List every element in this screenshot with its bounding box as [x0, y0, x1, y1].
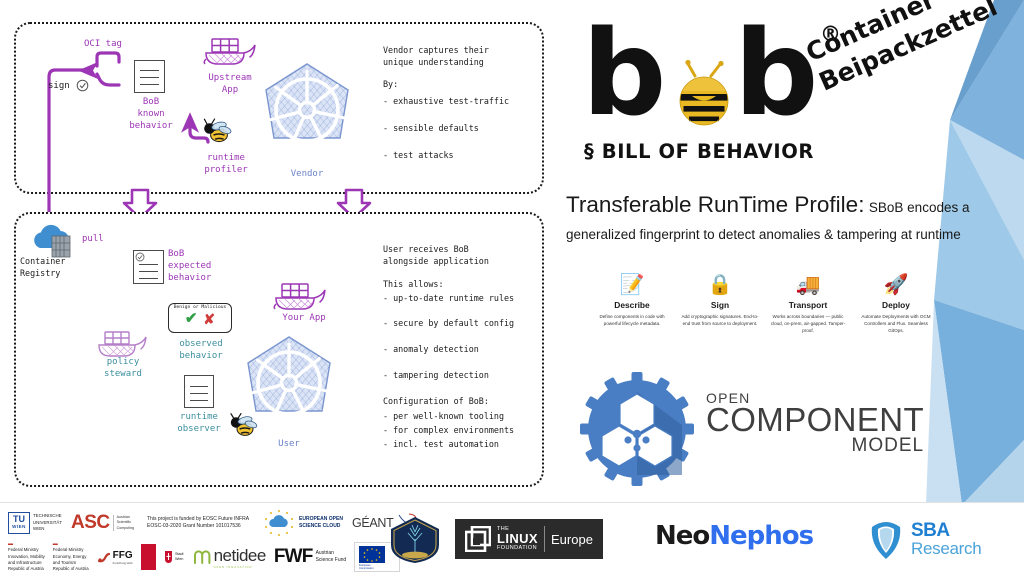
user-config-label: Configuration of BoB: — [383, 396, 489, 408]
user-config-item-2: - incl. test automation — [383, 439, 499, 451]
container-registry-label: Container Registry — [20, 256, 65, 280]
step-transport: 🚚 Transport Works across boundaries — pu… — [764, 272, 852, 334]
verdict-cross-icon: ✘ — [203, 312, 215, 326]
verdict-caption: Benign or Malicious — [174, 305, 227, 310]
user-notes-allows-label: This allows: — [383, 279, 444, 291]
step-deploy: 🚀 Deploy Automate Deployments with OCM C… — [852, 272, 940, 334]
eosc-cloud-stars-icon — [262, 509, 296, 537]
netidee-loop-icon — [192, 547, 212, 567]
ocm-line-model: MODEL — [706, 435, 924, 457]
bob-expected-behavior-label: BoB expected behavior — [168, 248, 240, 284]
container-registry-icon — [28, 224, 80, 260]
linux-foundation-logo: THE LINUX FOUNDATION Europe — [455, 519, 603, 559]
your-app-label: Your App — [272, 312, 336, 324]
kubernetes-vendor-icon — [261, 62, 353, 160]
bee-logo-icon — [677, 60, 733, 128]
ocm-logo: OPEN COMPONENT MODEL — [578, 370, 978, 485]
bob-known-document-icon — [134, 60, 165, 93]
kubernetes-user-icon — [243, 335, 335, 433]
sba-abbr: SBA — [911, 521, 981, 540]
user-notes-title: User receives BoB alongside application — [383, 244, 489, 268]
ffg-swirl-icon — [97, 550, 111, 564]
pull-label: pull — [82, 233, 104, 245]
neonephos-neo: Neo — [655, 521, 709, 551]
sign-check-icon — [76, 79, 89, 92]
tu-wien-name: TECHNISCHE UNIVERSITÄT WIEN — [33, 513, 62, 532]
vendor-note-item-2: - test attacks — [383, 150, 454, 162]
step-describe: 📝 Describe Define components in code wit… — [588, 272, 676, 334]
step-description: Automate Deployments with OCM Controller… — [852, 313, 940, 334]
fwf-logo: FWF Austrian Science Fund — [274, 546, 346, 568]
fwf-name: Austrian Science Fund — [316, 550, 347, 564]
neonephos-nephos: Nephos — [709, 521, 813, 551]
ministry-economy-name: Federal Ministry Economy, Energy and Tou… — [53, 547, 89, 573]
user-config-item-0: - per well-known tooling — [383, 411, 504, 423]
docker-whale-yourapp-icon — [272, 277, 328, 317]
verdict-check-icon: ✔ — [185, 311, 198, 326]
lf-divider — [544, 526, 545, 552]
bob-known-behavior-label: BoB known behavior — [118, 96, 184, 132]
ffg-logo: FFG Forschung wirkt. — [97, 550, 134, 565]
headline-line-2: generalized fingerprint to detect anomal… — [566, 227, 1016, 242]
padlock-icon: 🔒 — [676, 272, 764, 298]
ffg-abbr: FFG — [113, 550, 134, 561]
linux-foundation-mark-icon — [465, 526, 491, 552]
bob-logo-letter-left: b — [582, 14, 664, 132]
asc-abbr: ASC — [71, 512, 110, 534]
memo-pencil-icon: 📝 — [588, 272, 676, 298]
tree-shield-emblem-icon — [387, 515, 443, 565]
runtime-observer-label: runtime observer — [164, 411, 234, 435]
eosc-funding-text: This project is funded by EOSC Future IN… — [147, 516, 249, 531]
step-title: Deploy — [852, 300, 940, 310]
policy-steward-label: policy steward — [92, 356, 154, 380]
vendor-label: Vendor — [276, 168, 338, 180]
verdict-marks: ✔ ✘ — [185, 311, 215, 326]
stadt-wien-name: Stadt Wien — [175, 552, 183, 562]
headline-line-1: Transferable RunTime Profile: SBoB encod… — [566, 192, 1016, 218]
lf-foundation: FOUNDATION — [497, 546, 538, 552]
sign-label: sign — [48, 80, 70, 92]
tu-abbr: TU — [13, 515, 25, 523]
delivery-truck-icon: 🚚 — [764, 272, 852, 298]
asc-logo: ASC Austrian Scientific Computing — [71, 512, 134, 534]
red-partner-mark — [141, 544, 156, 570]
steps-row: 📝 Describe Define components in code wit… — [588, 272, 940, 334]
bob-logo-letter-right: b — [734, 14, 816, 132]
user-allows-item-2: - anomaly detection — [383, 344, 479, 356]
user-label: User — [260, 438, 318, 450]
eu-stars-icon — [359, 546, 385, 563]
wien-crest-icon — [164, 550, 173, 564]
fwf-abbr: FWF — [274, 546, 313, 568]
step-description: Add cryptographic signatures. End-to-end… — [676, 313, 764, 327]
neonephos-logo: NeoNephos — [655, 521, 813, 551]
linux-foundation-wordmark: THE LINUX FOUNDATION — [497, 527, 538, 551]
step-description: Works across boundaries — public cloud, … — [764, 313, 852, 334]
verdict-box: Benign or Malicious ✔ ✘ — [168, 303, 232, 333]
tu-city: WIEN — [12, 523, 26, 531]
docker-whale-upstream-icon — [202, 32, 258, 72]
vendor-notes-by-label: By: — [383, 79, 398, 91]
sba-research-logo: SBA Research — [866, 517, 981, 561]
stadt-wien-logo: Stadt Wien — [164, 550, 183, 564]
asc-name: Austrian Scientific Computing — [113, 515, 134, 531]
netidee-logo: netidee OPEN INNOVATION — [192, 546, 266, 569]
tu-wien-logo: TU WIEN TECHNISCHE UNIVERSITÄT WIEN — [8, 512, 62, 534]
ocm-line-component: COMPONENT — [706, 403, 924, 437]
step-description: Define components in code with powerful … — [588, 313, 676, 327]
bee-profiler-icon — [200, 118, 232, 144]
observed-behavior-label: observed behavior — [166, 338, 236, 362]
sba-wordmark: SBA Research — [911, 521, 981, 558]
headline: Transferable RunTime Profile: SBoB encod… — [566, 192, 1016, 242]
sponsor-row-bottom: ▬ Federal Ministry Innovation, Mobility … — [8, 539, 400, 575]
step-title: Transport — [764, 300, 852, 310]
runtime-profiler-label: runtime profiler — [190, 152, 262, 176]
sponsor-row-top: TU WIEN TECHNISCHE UNIVERSITÄT WIEN ASC … — [8, 507, 419, 539]
step-sign: 🔒 Sign Add cryptographic signatures. End… — [676, 272, 764, 334]
ffg-claim: Forschung wirkt. — [113, 561, 134, 565]
runtime-observer-document-icon — [184, 375, 214, 408]
ministry-economy-logo: ▬ Federal Ministry Economy, Energy and T… — [53, 541, 89, 573]
vendor-note-item-1: - sensible defaults — [383, 123, 479, 135]
ministry-innovation-logo: ▬ Federal Ministry Innovation, Mobility … — [8, 541, 45, 573]
user-allows-item-0: - up-to-date runtime rules — [383, 293, 514, 305]
headline-bold-part: Transferable RunTime Profile: — [566, 192, 864, 217]
eu-flag-icon — [359, 546, 385, 563]
eosc-name: EUROPEAN OPEN SCIENCE CLOUD — [299, 516, 343, 530]
ocm-gear-hexagons-icon — [578, 370, 696, 488]
lf-linux: LINUX — [497, 532, 538, 545]
sponsor-footer: TU WIEN TECHNISCHE UNIVERSITÄT WIEN ASC … — [0, 502, 1024, 576]
lf-region: Europe — [551, 532, 593, 547]
sba-shield-icon — [866, 517, 906, 561]
document-seal-icon — [135, 252, 145, 262]
rocket-icon: 🚀 — [852, 272, 940, 298]
bob-tagline: § BILL OF BEHAVIOR — [584, 140, 814, 163]
sba-research-word: Research — [911, 540, 981, 557]
vendor-notes-title: Vendor captures their unique understandi… — [383, 45, 489, 69]
eosc-logo: EUROPEAN OPEN SCIENCE CLOUD — [262, 509, 343, 537]
european-commission-name: European Commission — [359, 564, 373, 570]
poster-root: OCI tag sign BoB known behavior — [0, 0, 1024, 576]
right-column: b b ® § BILL OF BEHAVIOR Container — [560, 0, 1024, 500]
upstream-app-label: Upstream App — [196, 72, 264, 96]
tu-wien-mark: TU WIEN — [8, 512, 30, 534]
ministry-innovation-name: Federal Ministry Innovation, Mobility an… — [8, 547, 45, 573]
user-allows-item-1: - secure by default config — [383, 318, 514, 330]
ocm-wordmark: OPEN COMPONENT MODEL — [706, 390, 924, 457]
step-title: Sign — [676, 300, 764, 310]
user-config-item-1: - for complex environments — [383, 425, 514, 437]
vendor-note-item-0: - exhaustive test-traffic — [383, 96, 509, 108]
architecture-diagram: OCI tag sign BoB known behavior — [0, 0, 560, 500]
user-allows-item-3: - tampering detection — [383, 370, 489, 382]
netidee-claim: OPEN INNOVATION — [214, 566, 266, 569]
netidee-wordmark: netidee — [214, 546, 266, 566]
headline-light-part: SBoB encodes a — [869, 200, 970, 215]
oci-tag-label: OCI tag — [84, 38, 122, 50]
step-title: Describe — [588, 300, 676, 310]
